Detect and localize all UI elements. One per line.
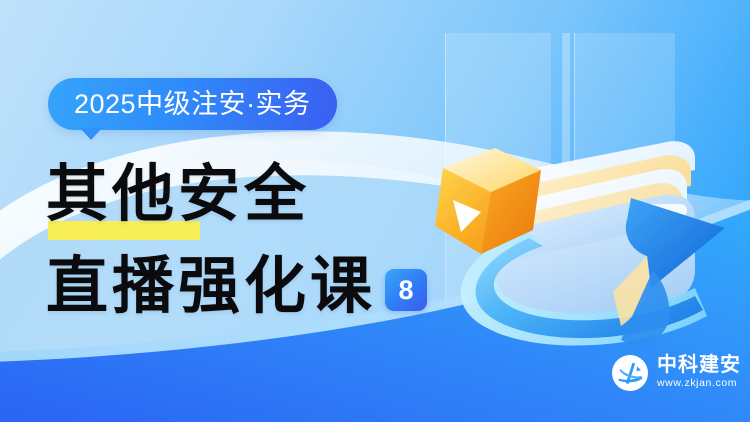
illustration-svg [395, 20, 750, 350]
brand-logo[interactable]: 中科建安 www.zkjan.com [612, 355, 741, 391]
headline-line-2-text: 直播强化课 [46, 255, 376, 317]
brand-url: www.zkjan.com [657, 377, 741, 391]
course-banner: 2025中级注安·实务 其他安全 直播强化课 8 中科建安 www.zkjan.… [0, 0, 750, 422]
headline-line-1: 其他安全 [46, 163, 310, 225]
course-category-label: 2025中级注安·实务 [74, 91, 311, 118]
brand-name: 中科建安 [657, 355, 741, 377]
zkjan-circle-arrow-icon [612, 355, 648, 391]
brand-logo-text: 中科建安 www.zkjan.com [657, 355, 741, 390]
course-category-pill: 2025中级注安·实务 [48, 78, 337, 130]
pill-tail-pointer [80, 128, 102, 140]
lesson-number-badge: 8 [385, 269, 427, 311]
folder-refresh-illustration [395, 20, 750, 350]
lesson-number-label: 8 [399, 277, 414, 304]
zkjan-mark-svg [615, 358, 645, 388]
headline-line-2: 直播强化课 8 [46, 255, 427, 317]
